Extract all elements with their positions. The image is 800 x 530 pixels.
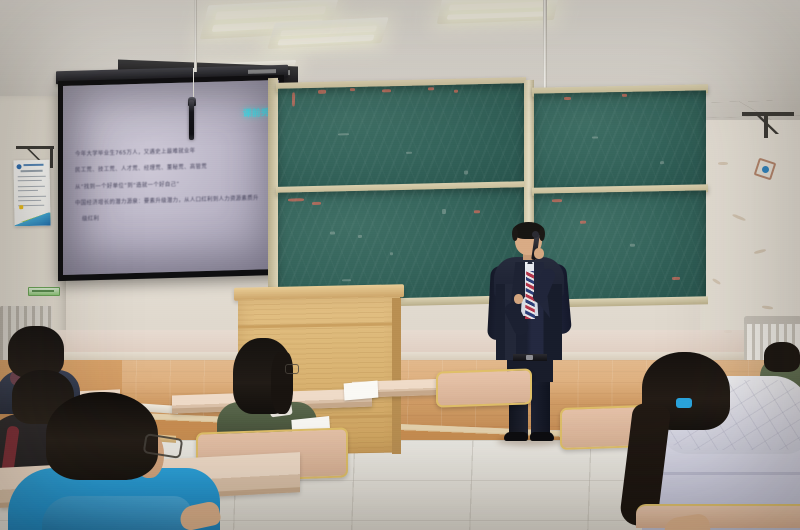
screen-vignette [63, 80, 279, 275]
blackboard-panel-3 [534, 90, 706, 191]
projector-screen-surface: 课前秀 今年大学毕业生765万人，又遇史上最难就业年 民工荒、技工荒、人才荒、经… [63, 80, 279, 275]
presenter-right-hand [534, 248, 544, 259]
wall-hook-dot [762, 166, 769, 173]
classroom-scene: 课前秀 今年大学毕业生765万人，又遇史上最难就业年 民工荒、技工荒、人才荒、经… [0, 0, 800, 530]
ceiling-light-fixture-right [437, 0, 560, 24]
support-pole-left [194, 0, 197, 72]
wall-notice-poster [13, 160, 50, 227]
presenter-left-shoe [504, 432, 528, 441]
wall-bracket [742, 112, 794, 138]
green-wall-sign [28, 287, 60, 296]
podium-side-edge [392, 298, 401, 454]
presenter-right-shoe [530, 432, 554, 441]
handheld-microphone-head [532, 231, 539, 238]
presenter-hair-side-left [512, 227, 518, 241]
projector-screen[interactable]: 课前秀 今年大学毕业生765万人，又遇史上最难就业年 民工荒、技工荒、人才荒、经… [58, 75, 284, 281]
hanging-microphone-body [189, 100, 194, 140]
student-lavender-puffer [612, 342, 800, 530]
presenter-right-leg [531, 376, 550, 438]
presenter-left-hand [514, 294, 523, 304]
student-blue-jacket [8, 392, 218, 530]
presenter-belt-buckle [526, 355, 533, 360]
notebook-sheet-2 [344, 381, 379, 401]
chair-back-center [436, 368, 532, 407]
presenter-hair-side-right [539, 227, 545, 241]
blackboard-panel-1 [278, 83, 524, 193]
presenter [487, 224, 571, 440]
